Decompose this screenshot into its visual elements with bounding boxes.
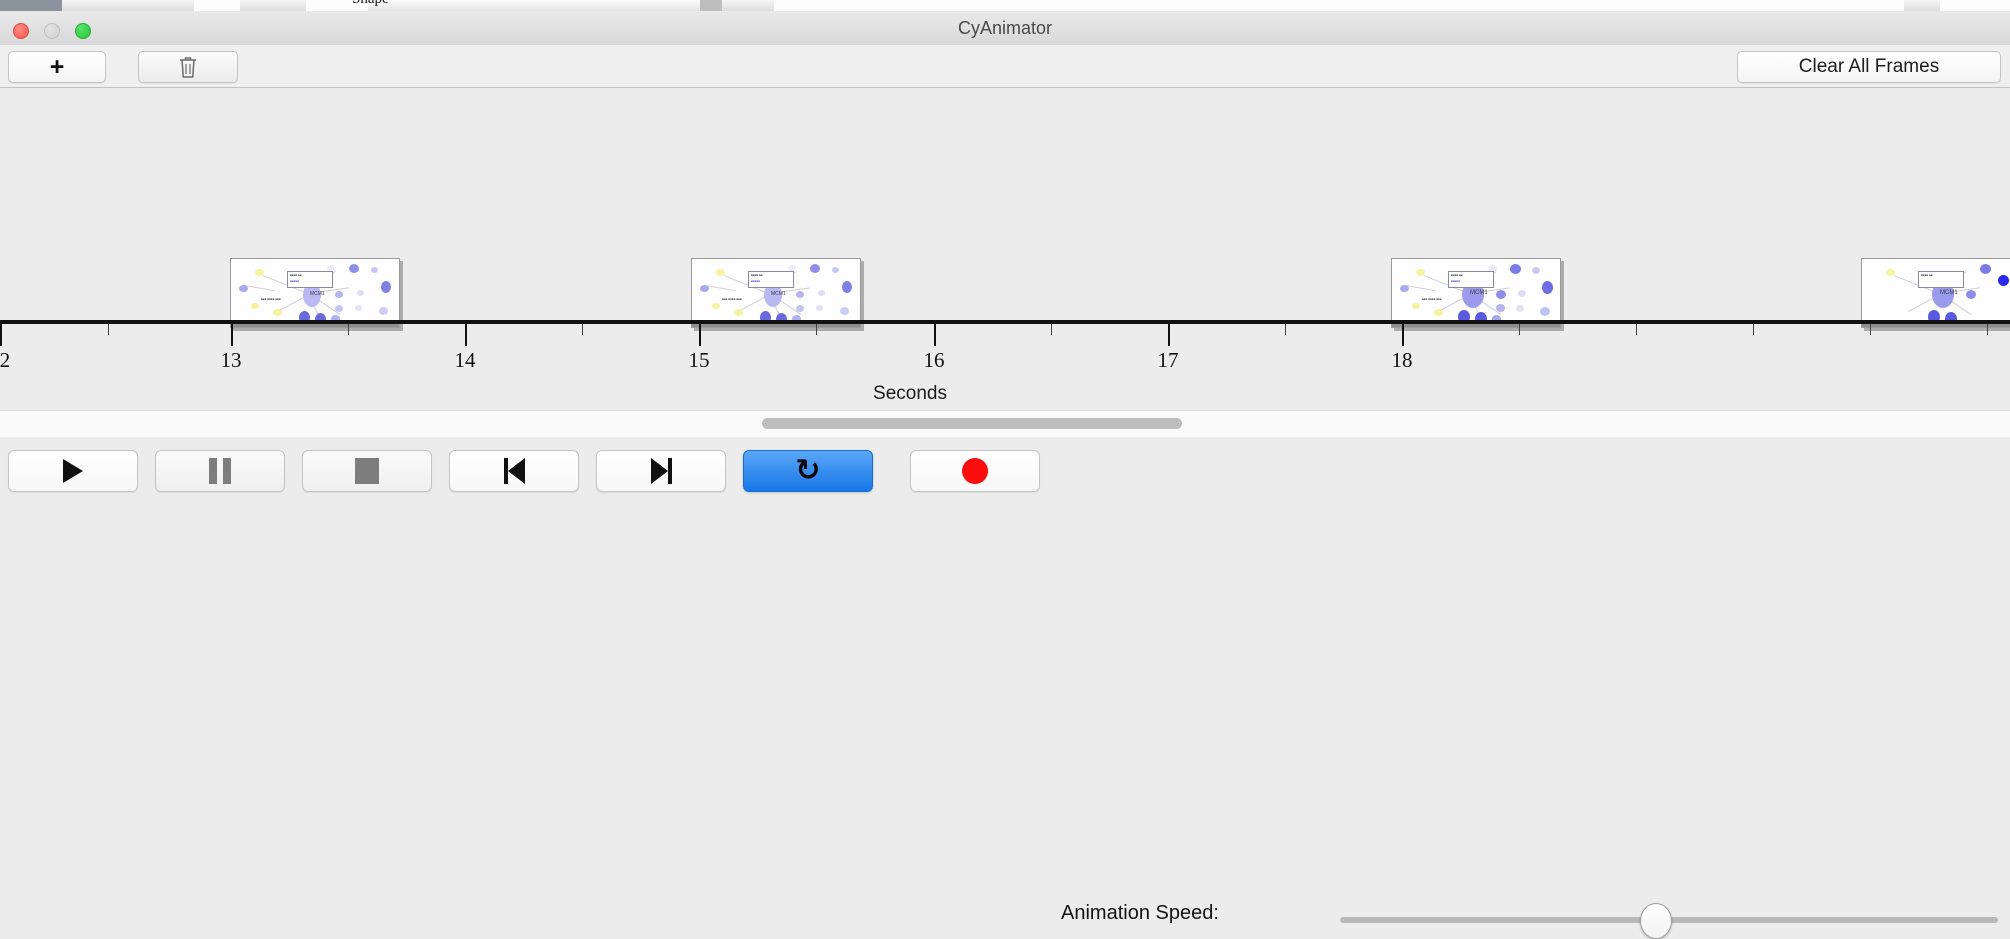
timeline-panel[interactable]: ■■■■ ■■ ■■■■■ ■■■ ■■■■ ■■■ MCM1 bbox=[0, 88, 2010, 410]
axis-tick-major bbox=[934, 324, 936, 346]
skip-next-icon bbox=[651, 458, 672, 484]
network-canvas: ■■■■ ■■ ■■■■■ ■■■ ■■■■ ■■■ MCM1 bbox=[231, 259, 399, 327]
frame-toolbar: + Clear All Frames bbox=[0, 45, 2010, 88]
axis-tick-minor bbox=[1051, 324, 1052, 335]
axis-tick-major bbox=[465, 324, 467, 346]
background-window-segment bbox=[62, 0, 155, 11]
frame-center-label: MCM1 bbox=[771, 291, 786, 297]
network-canvas: ■■■■ ■■ ■■■■■ ■■■ ■■■■ ■■■ MCM1 bbox=[692, 259, 860, 327]
frame-center-label: MCM1 bbox=[310, 291, 325, 297]
axis-tick-minor bbox=[1519, 324, 1520, 335]
axis-title-text: Seconds bbox=[873, 383, 947, 404]
axis-tick-minor bbox=[582, 324, 583, 335]
frame-center-label: MCM1 bbox=[1470, 290, 1488, 296]
axis-tick-minor bbox=[348, 324, 349, 335]
clear-all-frames-button[interactable]: Clear All Frames bbox=[1737, 51, 2001, 83]
axis-tick-major bbox=[699, 324, 701, 346]
background-window-label: Shape bbox=[352, 0, 389, 8]
timeline-frame-thumbnail[interactable]: ■■■■ ■■ ■■■■■ ■■■ ■■■■ ■■■ MCM1 bbox=[230, 258, 400, 328]
add-frame-button[interactable]: + bbox=[8, 51, 106, 83]
skip-previous-icon bbox=[504, 458, 525, 484]
background-window-strip: Shape bbox=[0, 0, 2010, 11]
animation-speed-slider-thumb[interactable] bbox=[1640, 903, 1672, 939]
timeline-frame-thumbnail[interactable]: ■■■■ ■■ ■■■■■ ■■■ ■■■■ ■■■ MCM1 bbox=[691, 258, 861, 328]
loop-button[interactable]: ↻ bbox=[743, 450, 873, 492]
network-canvas: ■■■■ ■■ ■■■■■ ■■■ ■■■■ ■■■ MCM1 bbox=[1392, 259, 1560, 327]
stop-button[interactable] bbox=[302, 450, 432, 492]
background-window-segment bbox=[240, 0, 307, 11]
playback-controls: ↻ Animation Speed: bbox=[0, 437, 2010, 510]
background-window-segment bbox=[154, 0, 195, 11]
axis-tick-label: 13 bbox=[221, 348, 242, 373]
axis-title: Seconds bbox=[0, 383, 2010, 405]
clear-all-frames-label: Clear All Frames bbox=[1799, 56, 1939, 78]
background-window-segment bbox=[1904, 0, 1941, 11]
axis-tick-label: 2 bbox=[0, 348, 10, 373]
timeline-frame-thumbnail[interactable]: ■■■■ ■■ ■■■■■ ■■■ ■■■■ ■■■ MCM1 bbox=[1391, 258, 1561, 328]
background-window-segment bbox=[1940, 0, 2010, 11]
record-button[interactable] bbox=[910, 450, 1040, 492]
timeline-ruler-line bbox=[0, 320, 2010, 324]
background-window-segment bbox=[194, 0, 240, 11]
skip-next-button[interactable] bbox=[596, 450, 726, 492]
play-icon bbox=[63, 459, 83, 483]
axis-tick-minor bbox=[816, 324, 817, 335]
axis-tick-major bbox=[1402, 324, 1404, 346]
frame-center-label: MCM1 bbox=[1940, 290, 1958, 296]
network-canvas: ■■■■ ■■ MCM1 bbox=[1862, 259, 2010, 327]
axis-tick-major bbox=[231, 324, 233, 346]
title-bar: CyAnimator bbox=[0, 11, 2010, 46]
timeline-scrollbar-thumb[interactable] bbox=[762, 418, 1182, 429]
axis-tick-minor bbox=[1987, 324, 1988, 335]
axis-tick-minor bbox=[108, 324, 109, 335]
play-button[interactable] bbox=[8, 450, 138, 492]
pause-button[interactable] bbox=[155, 450, 285, 492]
axis-tick-minor bbox=[1870, 324, 1871, 335]
timeline-scrollbar[interactable] bbox=[0, 410, 2010, 438]
axis-tick-label: 14 bbox=[455, 348, 476, 373]
background-window-dark-segment bbox=[0, 0, 62, 11]
axis-tick-minor bbox=[1285, 324, 1286, 335]
background-window-segment bbox=[700, 0, 723, 11]
record-icon bbox=[962, 458, 988, 484]
background-window-segment bbox=[722, 0, 775, 11]
animation-speed-label: Animation Speed: bbox=[1061, 902, 1219, 925]
axis-tick-label: 18 bbox=[1392, 348, 1413, 373]
axis-tick-label: 17 bbox=[1158, 348, 1179, 373]
skip-previous-button[interactable] bbox=[449, 450, 579, 492]
cyanimator-window: Shape CyAnimator + Clear All Frames bbox=[0, 0, 2010, 510]
axis-tick-major bbox=[0, 324, 2, 346]
axis-tick-minor bbox=[1636, 324, 1637, 335]
background-window-segment bbox=[774, 0, 1904, 11]
plus-icon: + bbox=[50, 55, 65, 80]
window-title: CyAnimator bbox=[0, 11, 2010, 45]
axis-tick-minor bbox=[1753, 324, 1754, 335]
axis-tick-label: 15 bbox=[689, 348, 710, 373]
axis-tick-major bbox=[1168, 324, 1170, 346]
delete-frame-button[interactable] bbox=[138, 51, 238, 83]
axis-tick-label: 16 bbox=[924, 348, 945, 373]
timeline-frame-thumbnail[interactable]: ■■■■ ■■ MCM1 bbox=[1861, 258, 2010, 328]
trash-icon bbox=[177, 55, 199, 79]
loop-icon: ↻ bbox=[795, 456, 820, 486]
pause-icon bbox=[209, 458, 231, 484]
stop-icon bbox=[355, 458, 379, 484]
